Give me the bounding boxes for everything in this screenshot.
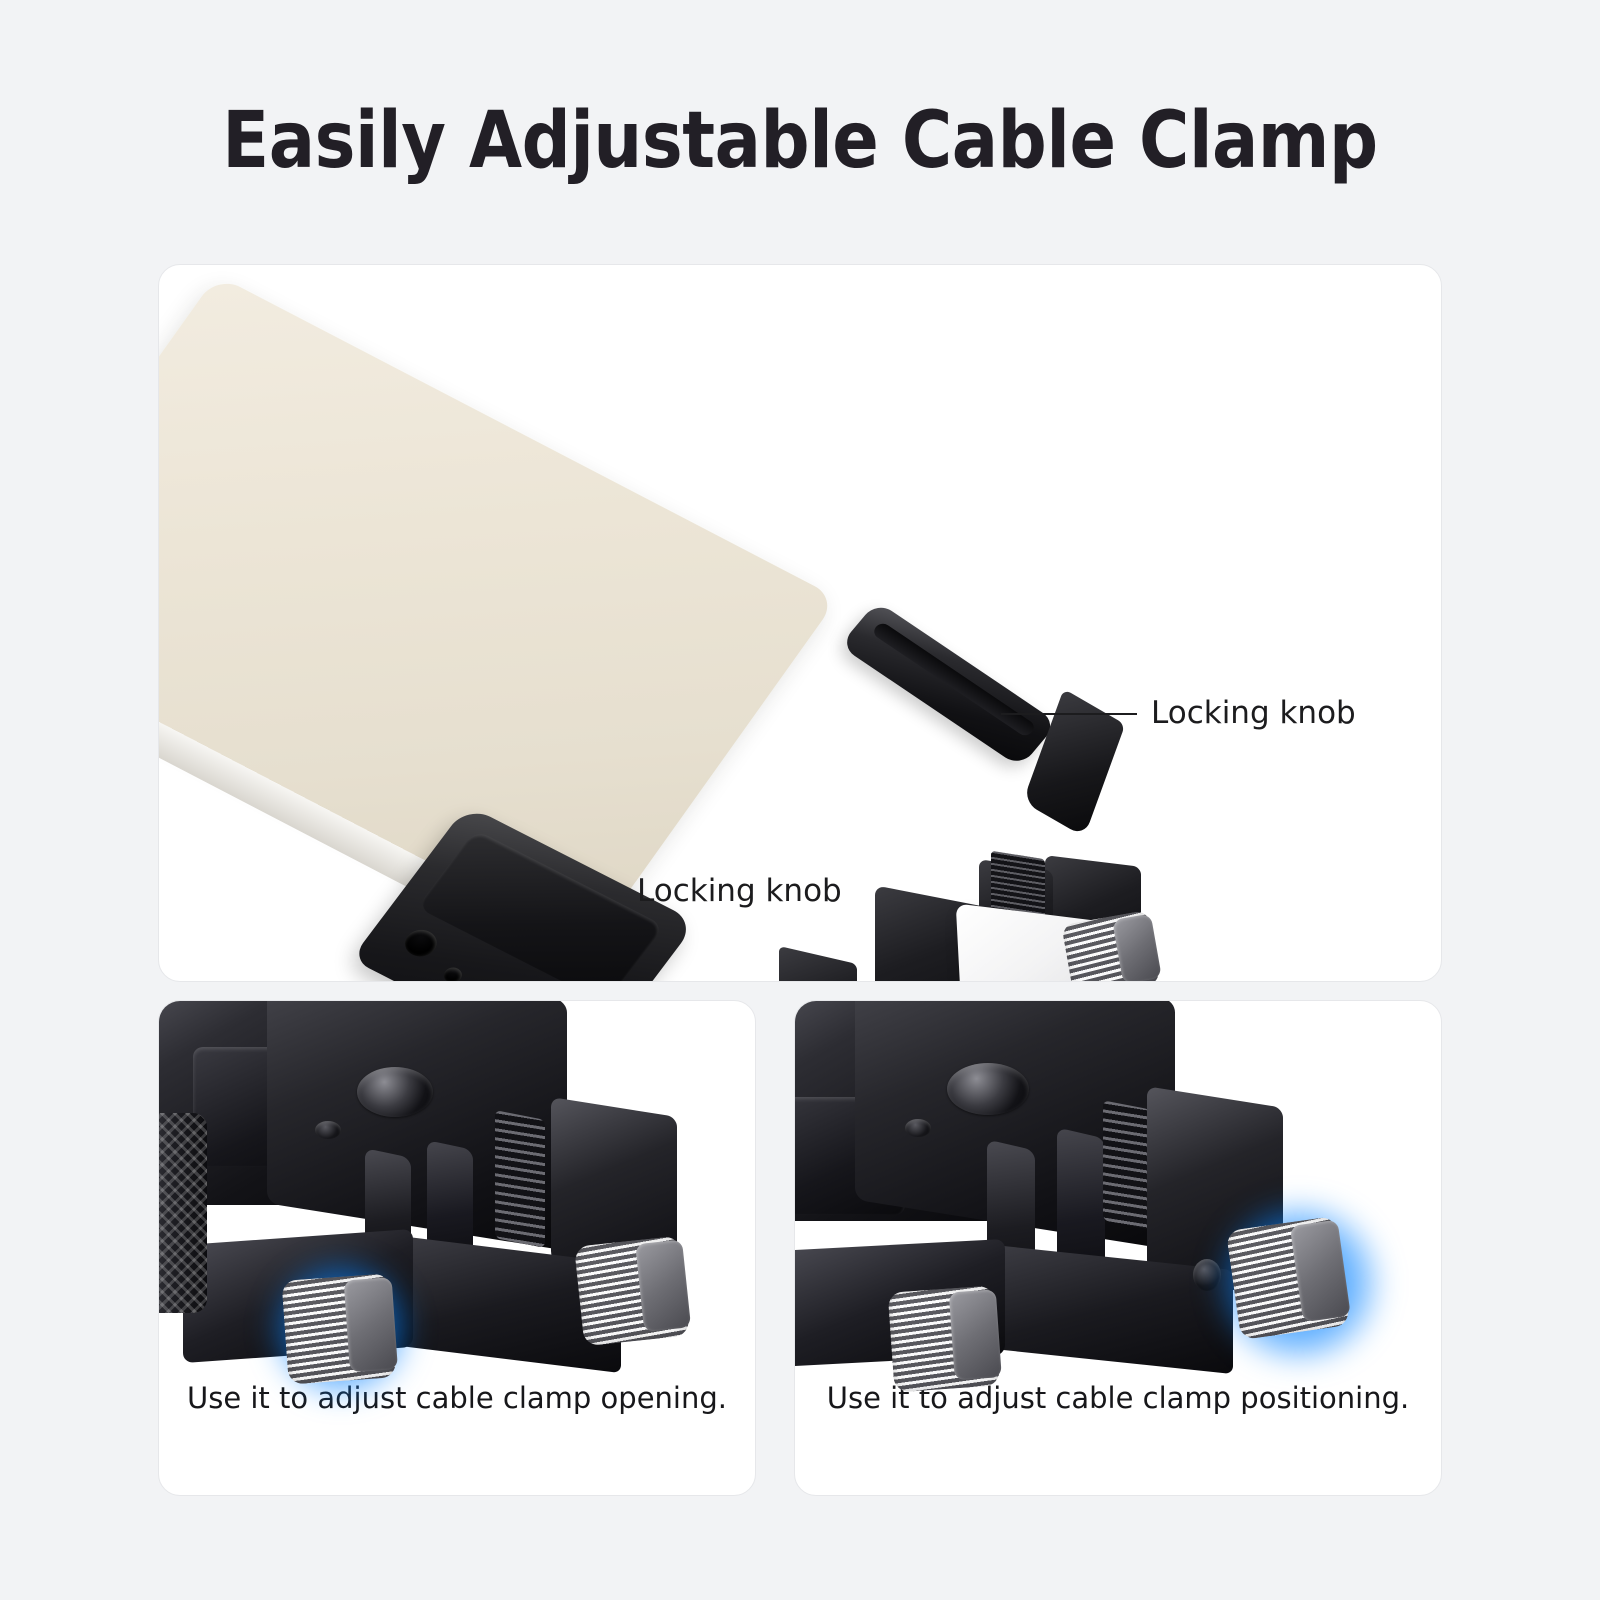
mount-hole-small xyxy=(440,965,465,982)
detail-card-opening: Use it to adjust cable clamp opening. xyxy=(158,1000,756,1496)
infographic-page: Easily Adjustable Cable Clamp xyxy=(0,0,1600,1600)
main-product-card: Locking knob Locking knob xyxy=(158,264,1442,982)
detail-caption-opening: Use it to adjust cable clamp opening. xyxy=(159,1381,755,1415)
clamp-foot-left xyxy=(779,946,857,982)
clamp-arm-top-groove xyxy=(871,621,1037,738)
knob-cap xyxy=(949,1289,1002,1380)
locking-knob-opening[interactable] xyxy=(282,1273,397,1384)
knob-cap xyxy=(344,1277,398,1372)
diamond-knurl-grip[interactable] xyxy=(158,1113,207,1313)
callout-label-right: Locking knob xyxy=(1151,695,1356,731)
knob-cap xyxy=(636,1240,692,1332)
locking-knob-secondary[interactable] xyxy=(888,1285,1001,1392)
screw-socket[interactable] xyxy=(947,1063,1029,1115)
clamp-opening-illustration: Use it to adjust cable clamp opening. xyxy=(159,1001,755,1495)
detail-caption-positioning: Use it to adjust cable clamp positioning… xyxy=(795,1381,1441,1415)
callout-label-bottom: Locking knob xyxy=(637,873,842,909)
pin-hole xyxy=(315,1121,341,1139)
pin-hole xyxy=(905,1119,931,1137)
locking-knob-positioning[interactable] xyxy=(1226,1216,1350,1340)
mount-hole-large-1 xyxy=(399,925,443,961)
page-title: Easily Adjustable Cable Clamp xyxy=(96,96,1504,186)
screw-socket[interactable] xyxy=(357,1067,433,1117)
clamp-ridge-block xyxy=(495,1110,545,1248)
clamp-ridge-block xyxy=(1103,1100,1151,1229)
locking-knob-secondary[interactable] xyxy=(574,1236,690,1347)
callout-leader-right xyxy=(1001,713,1137,715)
clamp-positioning-illustration: Use it to adjust cable clamp positioning… xyxy=(795,1001,1441,1495)
main-product-illustration: Locking knob Locking knob xyxy=(159,265,1441,981)
clamp-arm-top xyxy=(840,601,1058,768)
detail-card-positioning: Use it to adjust cable clamp positioning… xyxy=(794,1000,1442,1496)
